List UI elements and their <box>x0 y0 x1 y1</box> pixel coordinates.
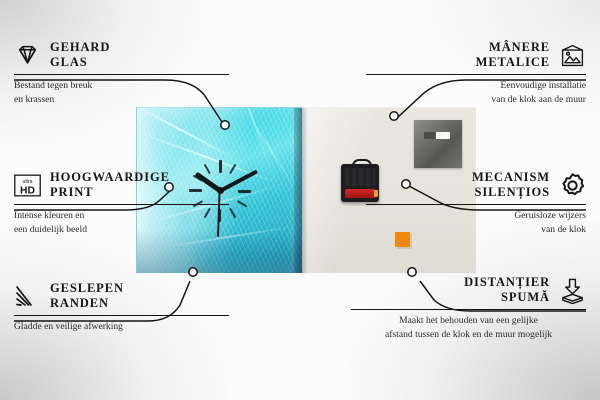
feature-mecanism-silentios: MECANISMSILENȚIOS Geruisloze wijzersvan … <box>366 170 586 236</box>
feature-divider <box>14 204 229 206</box>
hanger-slot <box>424 132 450 139</box>
feature-divider <box>14 74 229 76</box>
metal-hanger-icon <box>414 120 462 168</box>
bevelled-edges-icon <box>14 283 41 310</box>
feature-header: MECANISMSILENȚIOS <box>366 170 586 201</box>
feature-distantier-spuma: DISTANȚIERSPUMĂ Maakt het behouden van e… <box>351 275 586 341</box>
feature-title: HOOGWAARDIGEPRINT <box>50 170 170 201</box>
feature-header: GEHARDGLAS <box>14 40 229 71</box>
feature-header: MÂNEREMETALICE <box>366 40 586 71</box>
ultra-hd-icon: ultra HD <box>14 172 41 199</box>
svg-text:ultra: ultra <box>22 179 32 185</box>
feature-divider <box>366 204 586 206</box>
feature-title: GESLEPENRANDEN <box>50 281 124 312</box>
feature-title: GEHARDGLAS <box>50 40 110 71</box>
gear-icon <box>559 172 586 199</box>
infographic-canvas: GEHARDGLAS Bestand tegen breuken krassen… <box>0 0 600 400</box>
feature-header: DISTANȚIERSPUMĂ <box>351 275 586 306</box>
feature-title: MÂNEREMETALICE <box>476 40 550 71</box>
svg-text:HD: HD <box>20 185 35 196</box>
feature-divider <box>14 315 229 317</box>
feature-description: Eenvoudige installatievan de klok aan de… <box>366 79 586 106</box>
feature-title: MECANISMSILENȚIOS <box>472 170 550 201</box>
spacer-arrow-icon <box>559 277 586 304</box>
feature-divider <box>366 74 586 76</box>
feature-description: Intense kleuren eneen duidelijk beeld <box>14 209 229 236</box>
feature-hoogwaardige-print: ultra HD HOOGWAARDIGEPRINT Intense kleur… <box>14 170 229 236</box>
feature-header: GESLEPENRANDEN <box>14 281 229 312</box>
feature-divider <box>351 309 586 311</box>
feature-geslepen-randen: GESLEPENRANDEN Gladde en veilige afwerki… <box>14 281 229 334</box>
feature-description: Geruisloze wijzersvan de klok <box>366 209 586 236</box>
feature-description: Bestand tegen breuken krassen <box>14 79 229 106</box>
feature-gehard-glas: GEHARDGLAS Bestand tegen breuken krassen <box>14 40 229 106</box>
feature-manere-metalice: MÂNEREMETALICE Eenvoudige installatievan… <box>366 40 586 106</box>
diamond-icon <box>14 42 41 69</box>
feature-title: DISTANȚIERSPUMĂ <box>464 275 550 306</box>
feature-description: Maakt het behouden van een gelijkeafstan… <box>351 314 586 341</box>
feature-header: ultra HD HOOGWAARDIGEPRINT <box>14 170 229 201</box>
picture-frame-icon <box>559 42 586 69</box>
feature-description: Gladde en veilige afwerking <box>14 320 229 334</box>
